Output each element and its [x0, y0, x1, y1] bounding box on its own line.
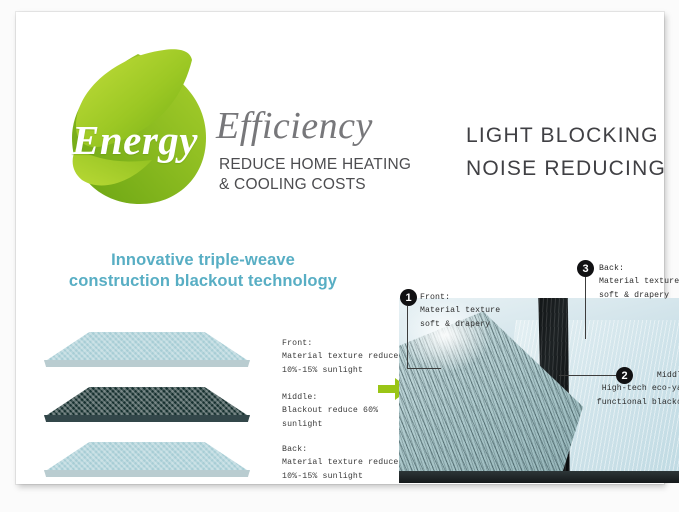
page-subtitle-line-2: & COOLING COSTS: [219, 175, 469, 195]
callout-2-title: Middle:: [576, 369, 679, 382]
layer-caption-back: Back: Material texture reduce 10%-15% su…: [282, 443, 402, 483]
layer-slab-middle: [44, 387, 250, 417]
callout-1-line-1: Material texture: [420, 304, 500, 317]
callout-1-leader-vertical: [407, 306, 408, 368]
callout-1-leader-horizontal: [407, 368, 441, 369]
layer-caption-front-title: Front:: [282, 337, 402, 350]
layer-slab-back-edge: [44, 470, 250, 477]
layer-caption-front-line-2: 10%-15% sunlight: [282, 364, 402, 377]
section-heading-line-2: construction blackout technology: [38, 271, 368, 292]
section-heading: Innovative triple-weave construction bla…: [38, 250, 368, 292]
layer-slab-middle-edge: [44, 415, 250, 422]
layer-slab-back: [44, 442, 250, 472]
layer-caption-back-title: Back:: [282, 443, 402, 456]
layer-slab-front-face: [44, 332, 250, 362]
claim-light-blocking: LIGHT BLOCKING: [466, 120, 666, 153]
layer-caption-back-line-2: 10%-15% sunlight: [282, 470, 402, 483]
layer-caption-front-line-1: Material texture reduce: [282, 350, 402, 363]
callout-3-leader-vertical: [585, 277, 586, 339]
infographic-card: Energy Efficiency REDUCE HOME HEATING & …: [16, 12, 664, 484]
layer-slab-back-face: [44, 442, 250, 472]
callout-1-badge: 1: [400, 289, 417, 306]
layer-slab-middle-face: [44, 387, 250, 417]
layer-slab-front: [44, 332, 250, 362]
page-subtitle-line-1: REDUCE HOME HEATING: [219, 155, 469, 175]
infographic-page: Energy Efficiency REDUCE HOME HEATING & …: [0, 0, 679, 512]
callout-2-text: Middle: High-tech eco-yarn functional bl…: [576, 369, 679, 409]
page-subtitle: REDUCE HOME HEATING & COOLING COSTS: [219, 155, 469, 196]
callout-3-title: Back:: [599, 262, 679, 275]
callout-3-line-1: Material texture: [599, 275, 679, 288]
callout-1-text: Front: Material texture soft & drapery: [420, 291, 500, 331]
layer-caption-middle-line-1: Blackout reduce 60%: [282, 404, 402, 417]
layer-caption-middle-line-2: sunlight: [282, 418, 402, 431]
page-title: Efficiency: [216, 107, 373, 145]
callout-1-line-2: soft & drapery: [420, 318, 500, 331]
logo-wordmark: Energy: [72, 120, 222, 161]
energy-leaf-logo: Energy: [60, 38, 220, 210]
callout-3-text: Back: Material texture soft & drapery: [599, 262, 679, 302]
layer-caption-back-line-1: Material texture reduce: [282, 456, 402, 469]
feature-claims: LIGHT BLOCKING NOISE REDUCING: [466, 120, 666, 185]
section-heading-line-1: Innovative triple-weave: [38, 250, 368, 271]
callout-2-line-2: functional blackout: [576, 396, 679, 409]
photo-bottom-shadow: [399, 471, 679, 483]
callout-2-line-1: High-tech eco-yarn: [576, 382, 679, 395]
callout-3-line-2: soft & drapery: [599, 289, 679, 302]
layer-slab-front-edge: [44, 360, 250, 367]
callout-1-title: Front:: [420, 291, 500, 304]
callout-3-badge: 3: [577, 260, 594, 277]
layer-caption-front: Front: Material texture reduce 10%-15% s…: [282, 337, 402, 377]
claim-noise-reducing: NOISE REDUCING: [466, 153, 666, 186]
